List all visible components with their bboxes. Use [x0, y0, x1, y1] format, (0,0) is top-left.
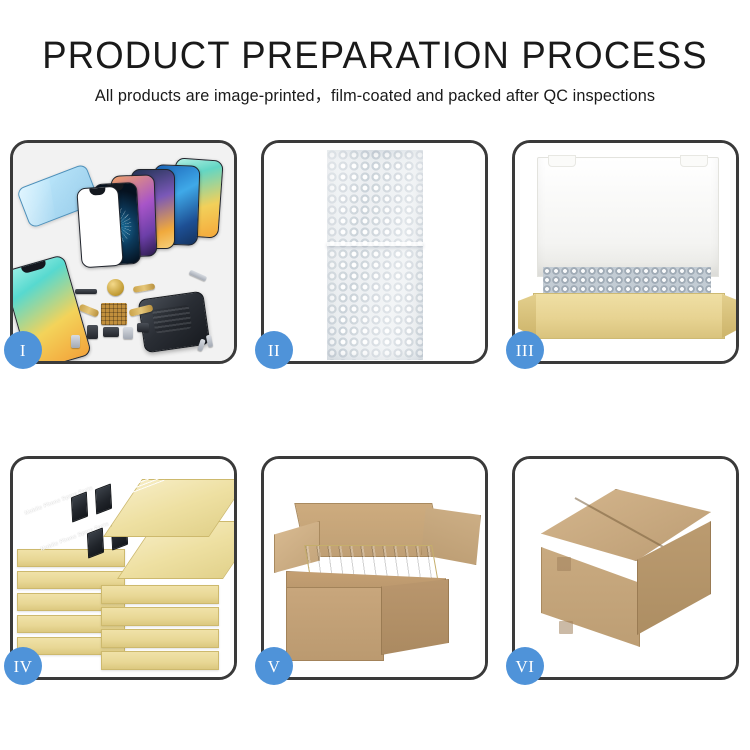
step-1-image [13, 143, 234, 361]
phone-graphic-white-front [76, 186, 123, 269]
phone-parts-scene [13, 143, 234, 361]
step-4-image: Mobile Phone Spare Parts Mobile Phone Sp… [13, 459, 234, 677]
spare-parts-box-product-image [71, 491, 88, 522]
spare-parts-box [101, 585, 219, 604]
page-title: PRODUCT PREPARATION PROCESS [15, 0, 735, 78]
spare-part-graphic [189, 270, 207, 282]
page-subtitle: All products are image-printed，film-coat… [6, 78, 745, 107]
step-6-caption: Sealed brown shipping carton ready for d… [515, 459, 516, 460]
open-carton-side-panel-graphic [381, 579, 449, 655]
phone-notch-icon [21, 261, 47, 275]
process-step-panel-3: III Bubble-wrapped items placed in open … [512, 140, 739, 364]
sealed-carton-front-panel-graphic [541, 547, 640, 647]
step-2-image [264, 143, 485, 361]
process-steps-grid: I Mobile phone screens, displays and spa… [10, 140, 740, 680]
phone-notch-icon [89, 188, 105, 196]
step-number-badge-1: I [4, 331, 42, 369]
step-5-caption: Yellow boxes loaded into open brown ship… [264, 459, 265, 460]
step-number-badge-3: III [506, 331, 544, 369]
spare-parts-box [101, 651, 219, 670]
sealed-carton-handle-tab-graphic [559, 621, 573, 634]
mailer-box-lid-graphic [537, 157, 719, 277]
process-step-panel-2: II Item wrapped in clear bubble wrap pou… [261, 140, 488, 364]
mailer-box-bubble-fill-graphic [543, 267, 711, 293]
step-5-image [264, 459, 485, 677]
process-step-panel-6: VI Sealed brown shipping carton ready fo… [512, 456, 739, 680]
spare-part-graphic [78, 304, 99, 318]
spare-parts-box [101, 629, 219, 648]
spare-part-graphic [101, 303, 127, 325]
spare-parts-box-printed-lid [103, 479, 234, 537]
spare-parts-box [101, 607, 219, 626]
page-header: PRODUCT PREPARATION PROCESS All products… [0, 0, 750, 107]
step-3-image [515, 143, 736, 361]
spare-part-graphic [133, 283, 156, 293]
spare-parts-box-product-image [95, 483, 112, 514]
spare-part-graphic [107, 279, 124, 296]
mailer-box-base-graphic [533, 293, 725, 339]
step-3-caption: Bubble-wrapped items placed in open whit… [515, 143, 516, 144]
spare-part-graphic [206, 335, 213, 348]
spare-part-graphic [103, 327, 119, 337]
sealed-carton-handle-tab-graphic [557, 557, 571, 571]
process-step-panel-1: I Mobile phone screens, displays and spa… [10, 140, 237, 364]
step-number-badge-6: VI [506, 647, 544, 685]
step-number-badge-5: V [255, 647, 293, 685]
spare-part-graphic [123, 327, 133, 339]
spare-parts-box [17, 549, 125, 567]
process-step-panel-4: Mobile Phone Spare Parts Mobile Phone Sp… [10, 456, 237, 680]
open-carton-front-panel-graphic [286, 587, 384, 661]
product-preparation-process-page: PRODUCT PREPARATION PROCESS All products… [0, 0, 750, 750]
spare-part-graphic [71, 335, 80, 348]
process-step-panel-5: V Yellow boxes loaded into open brown sh… [261, 456, 488, 680]
step-2-caption: Item wrapped in clear bubble wrap pouch [264, 143, 265, 144]
bubble-wrap-pouch-graphic [327, 150, 423, 360]
step-number-badge-2: II [255, 331, 293, 369]
spare-part-graphic [137, 323, 149, 332]
spare-part-graphic [87, 325, 98, 339]
step-number-badge-4: IV [4, 647, 42, 685]
spare-part-graphic [75, 289, 97, 294]
spare-parts-box-stack-graphic: Mobile Phone Spare Parts Mobile Phone Sp… [13, 459, 234, 677]
step-6-image [515, 459, 736, 677]
